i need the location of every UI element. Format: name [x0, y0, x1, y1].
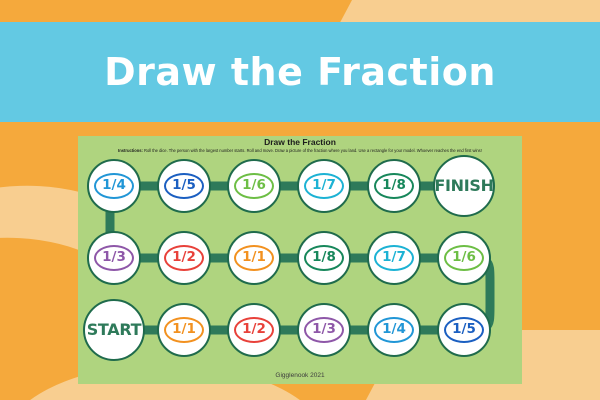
board-space[interactable]: 1/1 [227, 231, 281, 285]
board-space[interactable]: 1/4 [367, 303, 421, 357]
board-space[interactable]: 1/2 [227, 303, 281, 357]
space-label: 1/1 [172, 323, 196, 337]
space-label: 1/6 [452, 251, 476, 265]
space-label: 1/5 [452, 323, 476, 337]
space-oval: 1/4 [94, 173, 134, 199]
board-space[interactable]: 1/6 [437, 231, 491, 285]
space-label: 1/5 [172, 179, 196, 193]
space-label: 1/4 [102, 179, 126, 193]
board-space[interactable]: 1/3 [87, 231, 141, 285]
space-oval: 1/7 [304, 173, 344, 199]
board-space[interactable]: 1/3 [297, 303, 351, 357]
space-oval: 1/8 [304, 245, 344, 271]
board-space[interactable]: 1/4 [87, 159, 141, 213]
board-space[interactable]: 1/8 [367, 159, 421, 213]
space-oval: 1/3 [304, 317, 344, 343]
space-label: 1/1 [242, 251, 266, 265]
space-oval: 1/1 [164, 317, 204, 343]
space-label: 1/2 [172, 251, 196, 265]
space-oval: 1/1 [234, 245, 274, 271]
game-board: Draw the Fraction Instructions: Roll the… [78, 136, 522, 384]
board-space[interactable]: 1/5 [437, 303, 491, 357]
board-space[interactable]: 1/7 [367, 231, 421, 285]
board-space-finish[interactable]: FINISH [433, 155, 495, 217]
space-label: 1/8 [382, 179, 406, 193]
space-oval: 1/4 [374, 317, 414, 343]
board-space[interactable]: 1/7 [297, 159, 351, 213]
space-label: 1/6 [242, 179, 266, 193]
space-label: 1/3 [102, 251, 126, 265]
poster-stage: Draw the Fraction Draw the Fraction Inst… [0, 0, 600, 400]
page-title: Draw the Fraction [104, 50, 496, 94]
board-space[interactable]: 1/1 [157, 303, 211, 357]
board-space[interactable]: 1/5 [157, 159, 211, 213]
space-label: 1/3 [312, 323, 336, 337]
space-oval: 1/2 [164, 245, 204, 271]
space-label: 1/4 [382, 323, 406, 337]
space-label: FINISH [434, 178, 493, 194]
board-space[interactable]: 1/8 [297, 231, 351, 285]
space-label: 1/2 [242, 323, 266, 337]
board-space[interactable]: 1/6 [227, 159, 281, 213]
board-space-start[interactable]: START [83, 299, 145, 361]
space-label: 1/7 [312, 179, 336, 193]
space-oval: 1/6 [234, 173, 274, 199]
space-oval: 1/2 [234, 317, 274, 343]
space-label: 1/7 [382, 251, 406, 265]
space-oval: 1/6 [444, 245, 484, 271]
space-oval: 1/5 [164, 173, 204, 199]
space-oval: 1/8 [374, 173, 414, 199]
space-oval: 1/7 [374, 245, 414, 271]
space-oval: 1/3 [94, 245, 134, 271]
space-label: 1/8 [312, 251, 336, 265]
board-space[interactable]: 1/2 [157, 231, 211, 285]
space-oval: 1/5 [444, 317, 484, 343]
space-label: START [87, 322, 142, 338]
board-credit: Gigglenook 2021 [78, 372, 522, 379]
title-banner: Draw the Fraction [0, 22, 600, 122]
